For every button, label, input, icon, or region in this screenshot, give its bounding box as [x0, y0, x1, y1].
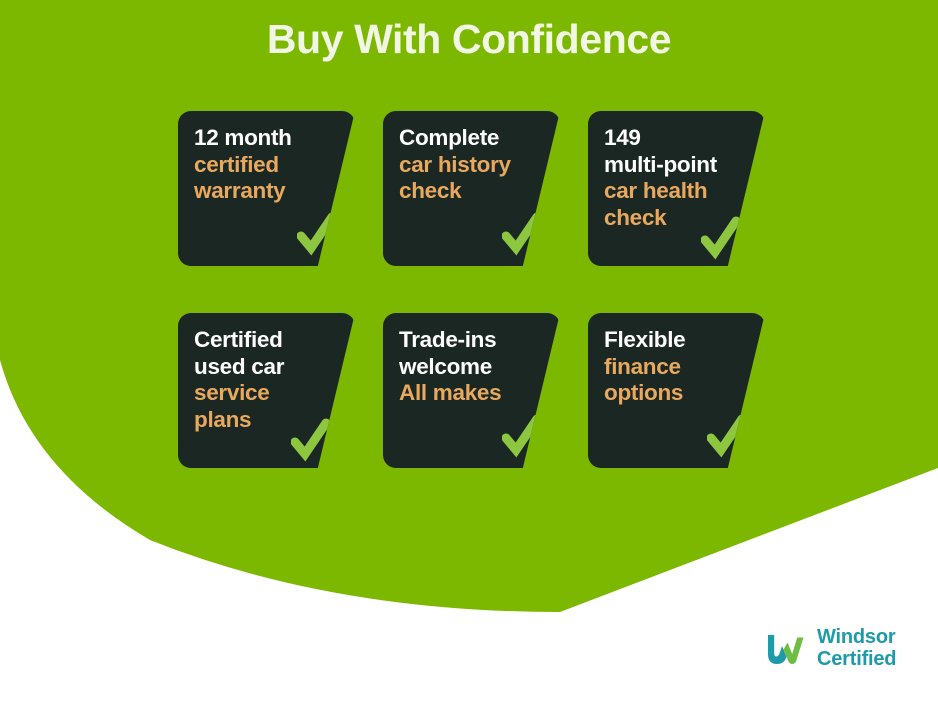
card-text-line: certified	[194, 152, 355, 179]
check-icon	[701, 216, 741, 260]
check-icon	[291, 418, 331, 462]
card-complete-car-history-check[interactable]: Completecar historycheck	[383, 111, 560, 266]
card-certified-used-car-service-plans[interactable]: Certifiedused carserviceplans	[178, 313, 355, 468]
check-icon	[297, 212, 337, 256]
card-text-line: check	[399, 178, 560, 205]
windsor-certified-logo: Windsor Certified	[762, 626, 896, 672]
logo-line-2: Certified	[817, 649, 896, 671]
card-text-line: car health	[604, 178, 765, 205]
card-text-line: welcome	[399, 354, 560, 381]
logo-wordmark: Windsor Certified	[817, 627, 896, 670]
card-trade-ins-welcome-all-makes[interactable]: Trade-inswelcomeAll makes	[383, 313, 560, 468]
card-text-line: finance	[604, 354, 765, 381]
card-text-line: Flexible	[604, 327, 765, 354]
card-12-month-certified-warranty[interactable]: 12 monthcertifiedwarranty	[178, 111, 355, 266]
check-icon	[502, 212, 542, 256]
benefit-card-grid: 12 monthcertifiedwarrantyCompletecar his…	[178, 111, 758, 515]
card-text-line: All makes	[399, 380, 560, 407]
card-149-multi-point-car-health-check[interactable]: 149multi-pointcar healthcheck	[588, 111, 765, 266]
card-text-line: car history	[399, 152, 560, 179]
card-text-line: plans	[194, 407, 355, 434]
card-text-line: 149	[604, 125, 765, 152]
check-icon	[502, 414, 542, 458]
windsor-w-icon	[762, 626, 808, 672]
card-text-line: options	[604, 380, 765, 407]
card-text-line: service	[194, 380, 355, 407]
check-icon	[707, 414, 747, 458]
logo-line-1: Windsor	[817, 627, 896, 649]
promo-banner: Buy With Confidence 12 monthcertifiedwar…	[0, 0, 938, 704]
card-text-line: 12 month	[194, 125, 355, 152]
card-flexible-finance-options[interactable]: Flexiblefinanceoptions	[588, 313, 765, 468]
card-text-line: Complete	[399, 125, 560, 152]
card-text-line: check	[604, 205, 765, 232]
card-text-line: Trade-ins	[399, 327, 560, 354]
card-text-line: multi-point	[604, 152, 765, 179]
card-text-line: Certified	[194, 327, 355, 354]
page-title: Buy With Confidence	[0, 17, 938, 62]
card-text-line: warranty	[194, 178, 355, 205]
benefit-card-row-bottom: Certifiedused carserviceplansTrade-inswe…	[178, 313, 758, 515]
benefit-card-row-top: 12 monthcertifiedwarrantyCompletecar his…	[178, 111, 758, 313]
card-text-line: used car	[194, 354, 355, 381]
